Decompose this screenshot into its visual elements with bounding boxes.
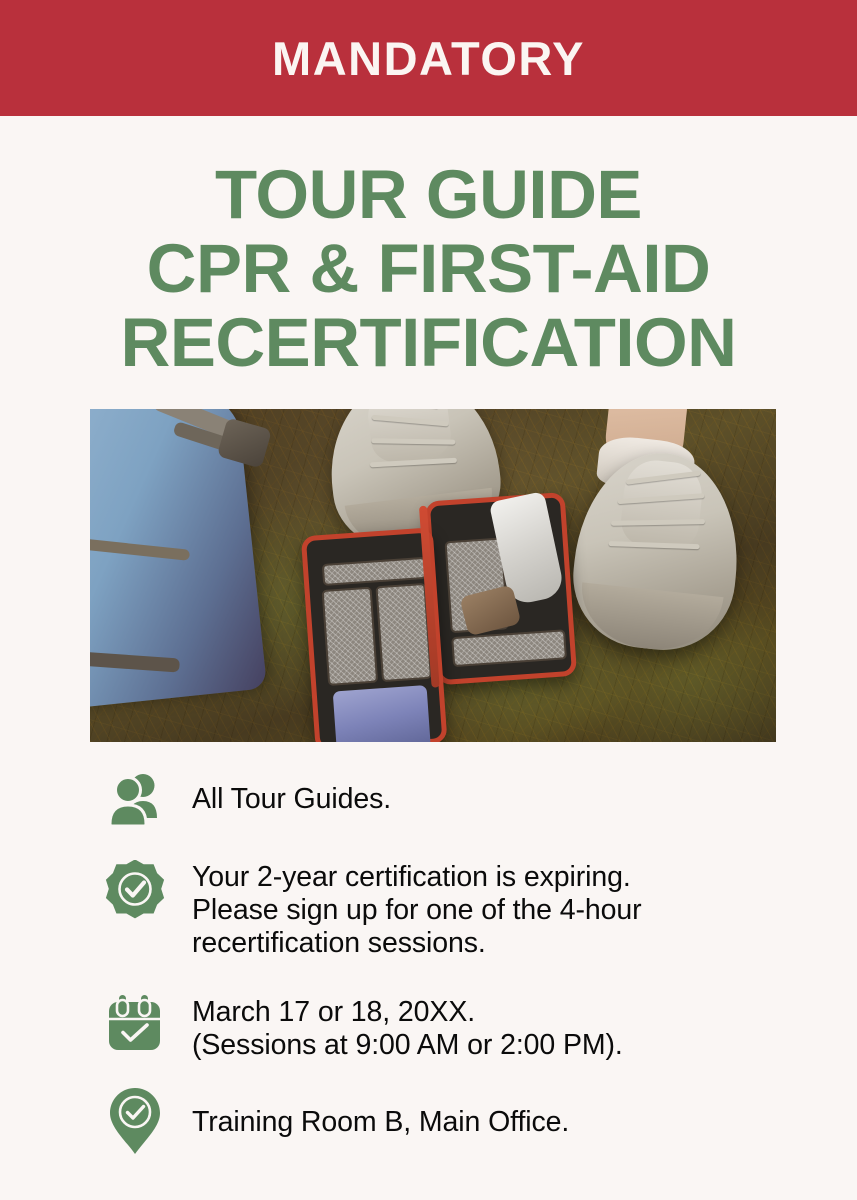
reason-line-3: recertification sessions. [192,927,642,960]
detail-text-location: Training Room B, Main Office. [192,1090,569,1139]
mandatory-banner: MANDATORY [0,0,857,116]
map-pin-check-icon [104,1090,166,1152]
page-title: TOUR GUIDE CPR & FIRST-AID RECERTIFICATI… [0,158,857,380]
date-line-1: March 17 or 18, 20XX. [192,996,623,1029]
audience-line-1: All Tour Guides. [192,783,391,816]
calendar-check-icon [104,992,166,1054]
kit-mesh-pocket [451,629,567,667]
page-title-line-2: CPR & FIRST-AID [0,232,857,306]
detail-row-location: Training Room B, Main Office. [0,1090,857,1152]
photo-scene [90,409,776,742]
first-aid-kit-photo [90,409,776,742]
page-title-line-3: RECERTIFICATION [0,306,857,380]
banner-label: MANDATORY [272,35,585,82]
reason-line-1: Your 2-year certification is expiring. [192,861,642,894]
details-list: All Tour Guides. Your 2-year certificati… [0,769,857,1174]
people-icon [104,769,166,831]
kit-mesh-pocket [375,583,432,682]
first-aid-kit [301,518,579,742]
detail-text-reason: Your 2-year certification is expiring. P… [192,859,642,960]
blue-backpack [90,409,267,708]
kit-mesh-strap [322,557,427,586]
location-line-1: Training Room B, Main Office. [192,1106,569,1139]
hiking-shoe-right [566,445,748,657]
kit-mesh-pocket [322,587,379,686]
verified-badge-icon [104,859,166,921]
kit-right-flap [425,492,577,685]
detail-text-date: March 17 or 18, 20XX. (Sessions at 9:00 … [192,992,623,1062]
backpack-strap [90,651,180,673]
kit-gauze-roll [333,685,431,742]
reason-line-2: Please sign up for one of the 4-hour [192,894,642,927]
page-title-line-1: TOUR GUIDE [0,158,857,232]
date-line-2: (Sessions at 9:00 AM or 2:00 PM). [192,1029,623,1062]
detail-row-audience: All Tour Guides. [0,769,857,831]
detail-text-audience: All Tour Guides. [192,769,391,816]
backpack-strap [90,537,190,560]
detail-row-reason: Your 2-year certification is expiring. P… [0,859,857,960]
detail-row-date: March 17 or 18, 20XX. (Sessions at 9:00 … [0,992,857,1062]
